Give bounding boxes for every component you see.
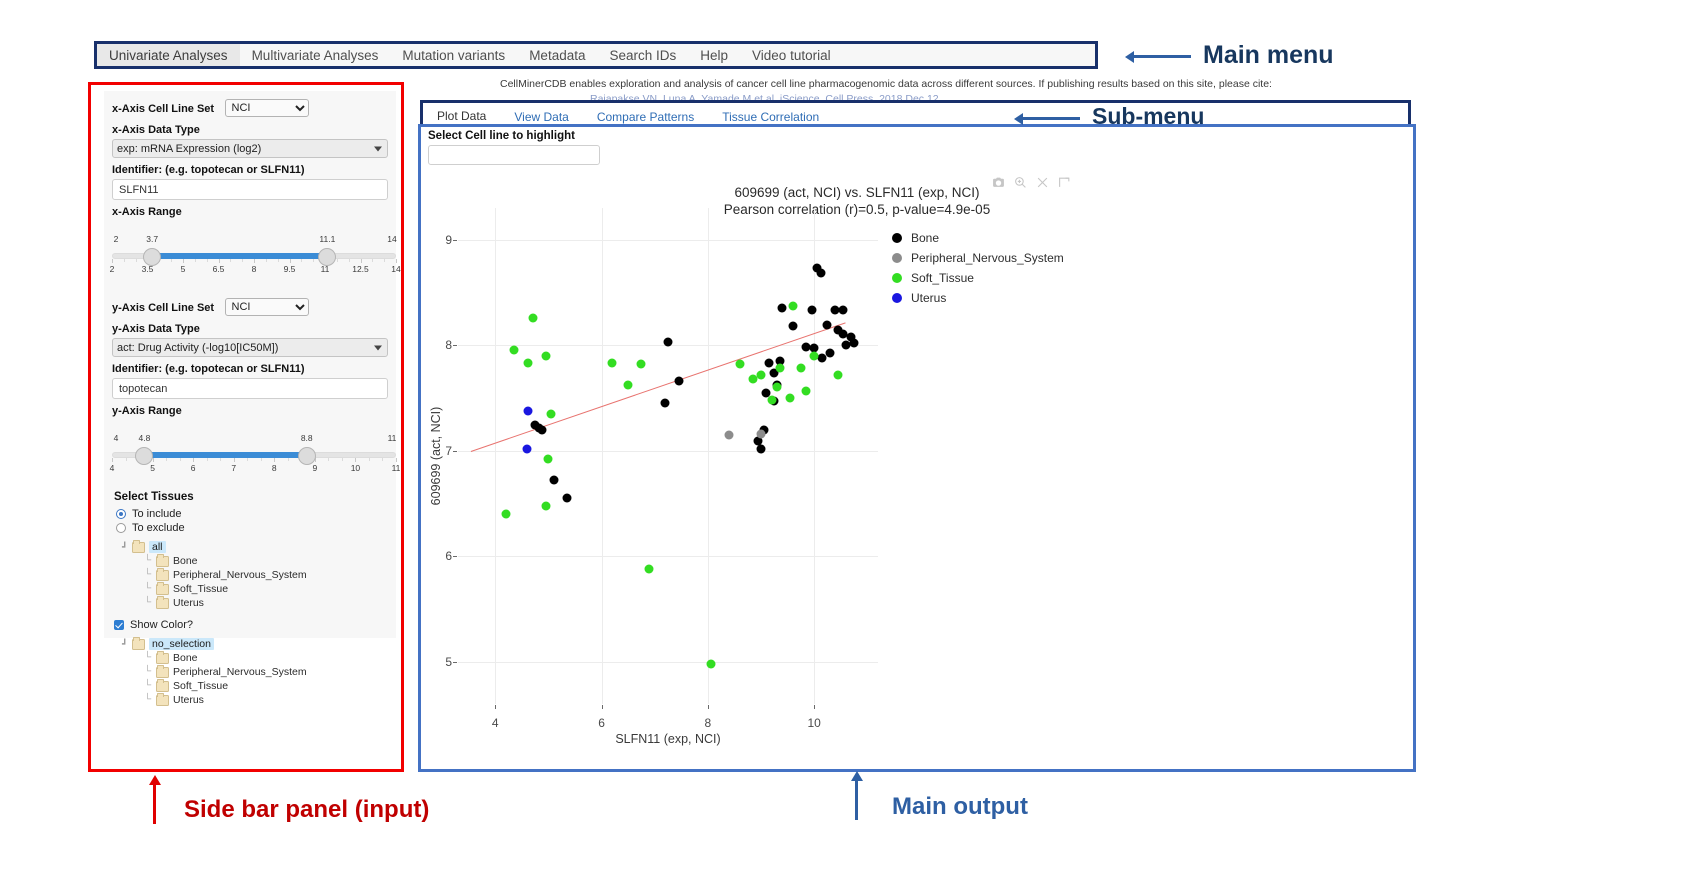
legend-color-dot — [892, 273, 902, 283]
x-axis-datatype-select[interactable]: exp: mRNA Expression (log2) — [112, 139, 388, 158]
y-axis-range-label: y-Axis Range — [112, 405, 388, 417]
slider-minor-tick — [337, 259, 338, 262]
chevron-down-icon — [374, 345, 382, 350]
folder-icon — [156, 584, 169, 595]
select-cellline-label: Select Cell line to highlight — [428, 130, 575, 142]
scatter-point[interactable] — [608, 359, 617, 368]
scatter-point[interactable] — [786, 393, 795, 402]
scatter-point[interactable] — [529, 313, 538, 322]
slider-minor-tick — [301, 259, 302, 262]
slider-handle-high-value: 8.8 — [301, 433, 313, 443]
sidebar-panel: x-Axis Cell Line Set NCI x-Axis Data Typ… — [88, 82, 404, 772]
slider-handle-high[interactable] — [318, 248, 336, 266]
y-axis-datatype-value: act: Drug Activity (-log10[IC50M]) — [117, 342, 278, 354]
annotation-arrow-sidebar — [153, 784, 156, 824]
scatter-point[interactable] — [796, 364, 805, 373]
trendline — [471, 322, 846, 452]
scatter-point[interactable] — [549, 476, 558, 485]
tree-node-pns-2-label: Peripheral_Nervous_System — [173, 666, 307, 678]
y-axis-identifier-input[interactable]: topotecan — [112, 378, 388, 399]
slider-minor-tick — [266, 259, 267, 262]
y-gridline — [458, 451, 878, 452]
tree-node-bone[interactable]: └ Bone — [144, 554, 388, 568]
slider-tick — [396, 458, 397, 462]
scatter-point[interactable] — [834, 370, 843, 379]
tree-node-no-selection-label: no_selection — [149, 638, 214, 650]
scatter-point[interactable] — [538, 425, 547, 434]
scatter-point[interactable] — [735, 360, 744, 369]
scatter-point[interactable] — [842, 341, 851, 350]
scatter-point[interactable] — [802, 386, 811, 395]
slider-tick-label: 8 — [272, 463, 277, 473]
sidebar-inputs: x-Axis Cell Line Set NCI x-Axis Data Typ… — [104, 91, 396, 638]
slider-minor-tick — [207, 458, 208, 461]
scatter-point[interactable] — [523, 444, 532, 453]
include-tissue-tree[interactable]: ┛ all └ Bone └ Peripheral_Nervous_System… — [122, 540, 388, 610]
x-gridline — [708, 208, 709, 704]
slider-minor-tick — [384, 259, 385, 262]
scatter-point[interactable] — [826, 348, 835, 357]
folder-icon — [156, 598, 169, 609]
y-tick-label: 9 — [445, 233, 452, 247]
slider-minor-tick — [328, 458, 329, 461]
slider-handle-low-value: 4.8 — [139, 433, 151, 443]
scatter-point[interactable] — [839, 306, 848, 315]
scatter-point[interactable] — [757, 444, 766, 453]
tree-elbow-icon: └ — [144, 681, 156, 691]
slider-handle-high-value: 11.1 — [319, 234, 335, 244]
tree-node-bone-2[interactable]: └ Bone — [144, 651, 388, 665]
tree-elbow-icon: └ — [144, 570, 156, 580]
tree-node-soft-tissue-2[interactable]: └ Soft_Tissue — [144, 679, 388, 693]
x-gridline — [602, 208, 603, 704]
x-tick-label: 8 — [705, 716, 712, 730]
tree-node-uterus[interactable]: └ Uterus — [144, 596, 388, 610]
folder-icon — [156, 681, 169, 692]
slider-max-label: 14 — [387, 234, 396, 244]
slider-tick — [361, 259, 362, 263]
annotation-sidebar-panel: Side bar panel (input) — [184, 796, 429, 824]
scatter-point[interactable] — [788, 322, 797, 331]
scatter-point[interactable] — [637, 360, 646, 369]
tree-node-soft-tissue[interactable]: └ Soft_Tissue — [144, 582, 388, 596]
cite-description: CellMinerCDB enables exploration and ana… — [500, 78, 1500, 90]
slider-handle-low[interactable] — [143, 248, 161, 266]
folder-icon — [156, 556, 169, 567]
slider-tick-label: 8 — [252, 264, 257, 274]
scatter-point[interactable] — [775, 364, 784, 373]
y-tick-mark — [453, 240, 457, 241]
tree-node-pns-2[interactable]: └ Peripheral_Nervous_System — [144, 665, 388, 679]
annotation-arrow-main-output — [855, 780, 858, 820]
slider-minor-tick — [171, 259, 172, 262]
slider-tick — [274, 458, 275, 462]
tree-node-uterus-label: Uterus — [173, 597, 204, 609]
x-axis-datatype-value: exp: mRNA Expression (log2) — [117, 143, 261, 155]
slider-min-label: 4 — [114, 433, 119, 443]
scatter-point[interactable] — [788, 302, 797, 311]
x-tick-mark — [814, 705, 815, 709]
y-gridline — [458, 240, 878, 241]
scatter-point[interactable] — [501, 510, 510, 519]
tree-node-soft-tissue-2-label: Soft_Tissue — [173, 680, 228, 692]
scatter-point[interactable] — [661, 399, 670, 408]
slider-tick-label: 9 — [312, 463, 317, 473]
slider-handle-high[interactable] — [298, 447, 316, 465]
x-axis-range-label: x-Axis Range — [112, 206, 388, 218]
x-tick-mark — [708, 705, 709, 709]
scatter-point[interactable] — [664, 338, 673, 347]
folder-icon — [156, 653, 169, 664]
x-axis-identifier-input[interactable]: SLFN11 — [112, 179, 388, 200]
folder-icon — [156, 570, 169, 581]
tree-node-no-selection[interactable]: ┛ no_selection — [122, 637, 388, 651]
y-gridline — [458, 662, 878, 663]
scatter-point[interactable] — [645, 564, 654, 573]
tree-node-bone-2-label: Bone — [173, 652, 198, 664]
slider-minor-tick — [220, 458, 221, 461]
slider-max-label: 11 — [388, 433, 397, 443]
y-axis-cellset-label: y-Axis Cell Line Set — [112, 302, 214, 314]
exclude-tissue-tree[interactable]: ┛ no_selection └ Bone └ Peripheral_Nervo… — [122, 637, 388, 707]
annotation-sub-menu: Sub-menu — [1092, 103, 1204, 130]
slider-minor-tick — [342, 458, 343, 461]
scatter-point[interactable] — [778, 304, 787, 313]
slider-tick-label: 2 — [110, 264, 115, 274]
scatter-point[interactable] — [541, 501, 550, 510]
y-axis-identifier-value: topotecan — [119, 383, 167, 395]
plot-title-main: 609699 (act, NCI) vs. SLFN11 (exp, NCI) — [422, 184, 1292, 201]
x-tick-label: 4 — [492, 716, 499, 730]
scatter-point[interactable] — [562, 494, 571, 503]
slider-tick — [112, 458, 113, 462]
slider-tick-label: 11 — [392, 463, 401, 473]
tree-node-bone-label: Bone — [173, 555, 198, 567]
tree-toggle-icon[interactable]: ┛ — [122, 543, 132, 552]
tree-node-peripheral-nervous-system[interactable]: └ Peripheral_Nervous_System — [144, 568, 388, 582]
slider-tick-label: 5 — [181, 264, 186, 274]
legend-color-dot — [892, 233, 902, 243]
slider-minor-tick — [369, 458, 370, 461]
y-tick-label: 8 — [445, 338, 452, 352]
legend-item-soft-tissue[interactable]: Soft_Tissue — [892, 268, 1064, 288]
legend-color-dot — [892, 253, 902, 263]
tree-node-uterus-2-label: Uterus — [173, 694, 204, 706]
slider-minor-tick — [313, 259, 314, 262]
menu-item-multivariate-analyses[interactable]: Multivariate Analyses — [240, 44, 391, 66]
slider-minor-tick — [124, 259, 125, 262]
slider-minor-tick — [126, 458, 127, 461]
menu-item-metadata[interactable]: Metadata — [517, 44, 597, 66]
slider-minor-tick — [382, 458, 383, 461]
legend-label-uterus: Uterus — [911, 291, 946, 305]
y-axis-range-slider[interactable]: 45678910114.88.8411 — [112, 433, 396, 477]
legend-item-peripheral-nervous-system[interactable]: Peripheral_Nervous_System — [892, 248, 1064, 268]
x-axis-cellset-label: x-Axis Cell Line Set — [112, 103, 214, 115]
y-axis-datatype-label: y-Axis Data Type — [112, 323, 388, 335]
x-gridline — [814, 208, 815, 704]
tree-elbow-icon: └ — [144, 584, 156, 594]
slider-tick-label: 4 — [110, 463, 115, 473]
folder-icon — [132, 639, 145, 650]
slider-tick — [234, 458, 235, 462]
slider-minor-tick — [372, 259, 373, 262]
slider-minor-tick — [247, 458, 248, 461]
menu-item-mutation-variants[interactable]: Mutation variants — [390, 44, 517, 66]
scatter-point[interactable] — [547, 409, 556, 418]
slider-minor-tick — [180, 458, 181, 461]
x-axis-datatype-label: x-Axis Data Type — [112, 124, 388, 136]
x-tick-label: 6 — [598, 716, 605, 730]
scatter-plot: 609699 (act, NCI) vs. SLFN11 (exp, NCI) … — [422, 166, 1412, 768]
slider-tick-label: 10 — [351, 463, 360, 473]
select-cellline-input[interactable] — [428, 145, 600, 165]
annotation-main-menu: Main menu — [1203, 41, 1334, 70]
x-axis-title: SLFN11 (exp, NCI) — [615, 732, 720, 746]
main-menu[interactable]: Univariate Analyses Multivariate Analyse… — [94, 41, 1098, 69]
scatter-point[interactable] — [757, 370, 766, 379]
slider-minor-tick — [349, 259, 350, 262]
y-tick-mark — [453, 345, 457, 346]
x-gridline — [495, 208, 496, 704]
scatter-point[interactable] — [823, 321, 832, 330]
scatter-point[interactable] — [624, 381, 633, 390]
tree-node-all[interactable]: ┛ all — [122, 540, 388, 554]
tree-node-pns-label: Peripheral_Nervous_System — [173, 569, 307, 581]
plot-legend[interactable]: Bone Peripheral_Nervous_System Soft_Tiss… — [892, 228, 1064, 308]
slider-minor-tick — [288, 458, 289, 461]
legend-item-uterus[interactable]: Uterus — [892, 288, 1064, 308]
y-tick-mark — [453, 662, 457, 663]
annotation-main-output: Main output — [892, 793, 1028, 821]
tree-node-uterus-2[interactable]: └ Uterus — [144, 693, 388, 707]
folder-icon — [156, 695, 169, 706]
slider-minor-tick — [278, 259, 279, 262]
tree-elbow-icon: └ — [144, 695, 156, 705]
autoscale-icon[interactable] — [1058, 176, 1071, 189]
radio-include-icon — [116, 509, 126, 519]
show-color-checkbox[interactable]: Show Color? — [114, 619, 388, 631]
slider-tick — [112, 259, 113, 263]
reset-axes-icon[interactable] — [1036, 176, 1049, 189]
slider-tick — [290, 259, 291, 263]
scatter-point[interactable] — [850, 339, 859, 348]
slider-tick — [355, 458, 356, 462]
legend-color-dot — [892, 293, 902, 303]
zoom-in-icon[interactable] — [1014, 176, 1027, 189]
radio-to-include[interactable]: To include — [116, 508, 388, 520]
show-color-label: Show Color? — [130, 619, 193, 631]
slider-tick-label: 7 — [231, 463, 236, 473]
scatter-point[interactable] — [772, 383, 781, 392]
scatter-point[interactable] — [767, 396, 776, 405]
slider-tick — [219, 259, 220, 263]
slider-tick — [193, 458, 194, 462]
slider-handle-low[interactable] — [135, 447, 153, 465]
slider-handle-low-value: 3.7 — [146, 234, 158, 244]
x-tick-mark — [602, 705, 603, 709]
scatter-point[interactable] — [544, 455, 553, 464]
y-gridline — [458, 556, 878, 557]
slider-tick — [396, 259, 397, 263]
menu-item-search-ids[interactable]: Search IDs — [597, 44, 688, 66]
x-axis-range-slider[interactable]: 23.556.589.51112.5143.711.1214 — [112, 234, 396, 278]
tree-toggle-icon[interactable]: ┛ — [122, 640, 132, 649]
checkbox-checked-icon — [114, 620, 124, 630]
slider-minor-tick — [242, 259, 243, 262]
select-tissues-title: Select Tissues — [114, 491, 388, 503]
slider-minor-tick — [195, 259, 196, 262]
scatter-point[interactable] — [725, 430, 734, 439]
menu-item-univariate-analyses[interactable]: Univariate Analyses — [97, 44, 240, 66]
slider-tick-label: 6.5 — [213, 264, 225, 274]
scatter-point[interactable] — [807, 306, 816, 315]
plotly-modebar[interactable] — [992, 176, 1071, 189]
y-tick-mark — [453, 451, 457, 452]
scatter-point[interactable] — [757, 429, 766, 438]
y-tick-mark — [453, 556, 457, 557]
x-tick-mark — [495, 705, 496, 709]
y-tick-label: 5 — [445, 655, 452, 669]
radio-exclude-label: To exclude — [132, 522, 185, 534]
slider-tick-label: 12.5 — [352, 264, 369, 274]
slider-minor-tick — [261, 458, 262, 461]
slider-minor-tick — [230, 259, 231, 262]
legend-label-soft-tissue: Soft_Tissue — [911, 271, 974, 285]
x-axis-identifier-value: SLFN11 — [119, 184, 159, 196]
scatter-point[interactable] — [765, 359, 774, 368]
legend-label-bone: Bone — [911, 231, 939, 245]
radio-include-label: To include — [132, 508, 182, 520]
scatter-point[interactable] — [816, 269, 825, 278]
scatter-point[interactable] — [509, 346, 518, 355]
tree-node-all-label: all — [149, 541, 166, 553]
legend-label-pns: Peripheral_Nervous_System — [911, 251, 1064, 265]
camera-icon[interactable] — [992, 176, 1005, 189]
folder-icon — [156, 667, 169, 678]
tree-node-soft-tissue-label: Soft_Tissue — [173, 583, 228, 595]
menu-item-video-tutorial[interactable]: Video tutorial — [740, 44, 843, 66]
annotation-arrow-sub-menu — [1022, 117, 1080, 120]
slider-minor-tick — [136, 259, 137, 262]
slider-tick-label: 6 — [191, 463, 196, 473]
y-axis-datatype-select[interactable]: act: Drug Activity (-log10[IC50M]) — [112, 338, 388, 357]
scatter-point[interactable] — [674, 377, 683, 386]
slider-min-label: 2 — [114, 234, 119, 244]
y-tick-label: 7 — [445, 444, 452, 458]
scatter-point[interactable] — [706, 659, 715, 668]
y-tick-label: 6 — [445, 549, 452, 563]
y-axis-cellset-select[interactable]: NCI — [225, 298, 309, 316]
slider-tick-label: 5 — [150, 463, 155, 473]
slider-minor-tick — [166, 458, 167, 461]
scatter-point[interactable] — [810, 351, 819, 360]
slider-tick — [183, 259, 184, 263]
x-tick-label: 10 — [808, 716, 821, 730]
radio-exclude-icon — [116, 523, 126, 533]
tree-elbow-icon: └ — [144, 598, 156, 608]
radio-to-exclude[interactable]: To exclude — [116, 522, 388, 534]
y-axis-identifier-label: Identifier: (e.g. topotecan or SLFN11) — [112, 363, 388, 375]
slider-tick — [254, 259, 255, 263]
legend-item-bone[interactable]: Bone — [892, 228, 1064, 248]
plot-canvas[interactable]: 609699 (act, NCI) SLFN11 (exp, NCI) 4681… — [458, 208, 878, 704]
scatter-point[interactable] — [524, 359, 533, 368]
menu-item-help[interactable]: Help — [688, 44, 740, 66]
scatter-point[interactable] — [524, 406, 533, 415]
x-axis-cellset-select[interactable]: NCI — [225, 99, 309, 117]
slider-tick-label: 14 — [391, 264, 400, 274]
folder-icon — [132, 542, 145, 553]
tree-elbow-icon: └ — [144, 653, 156, 663]
y-axis-title: 609699 (act, NCI) — [429, 407, 443, 506]
tree-elbow-icon: └ — [144, 667, 156, 677]
slider-tick-label: 9.5 — [284, 264, 296, 274]
annotation-arrow-main-menu — [1133, 55, 1191, 58]
slider-minor-tick — [207, 259, 208, 262]
scatter-point[interactable] — [541, 351, 550, 360]
x-axis-identifier-label: Identifier: (e.g. topotecan or SLFN11) — [112, 164, 388, 176]
tree-elbow-icon: └ — [144, 556, 156, 566]
chevron-down-icon — [374, 146, 382, 151]
